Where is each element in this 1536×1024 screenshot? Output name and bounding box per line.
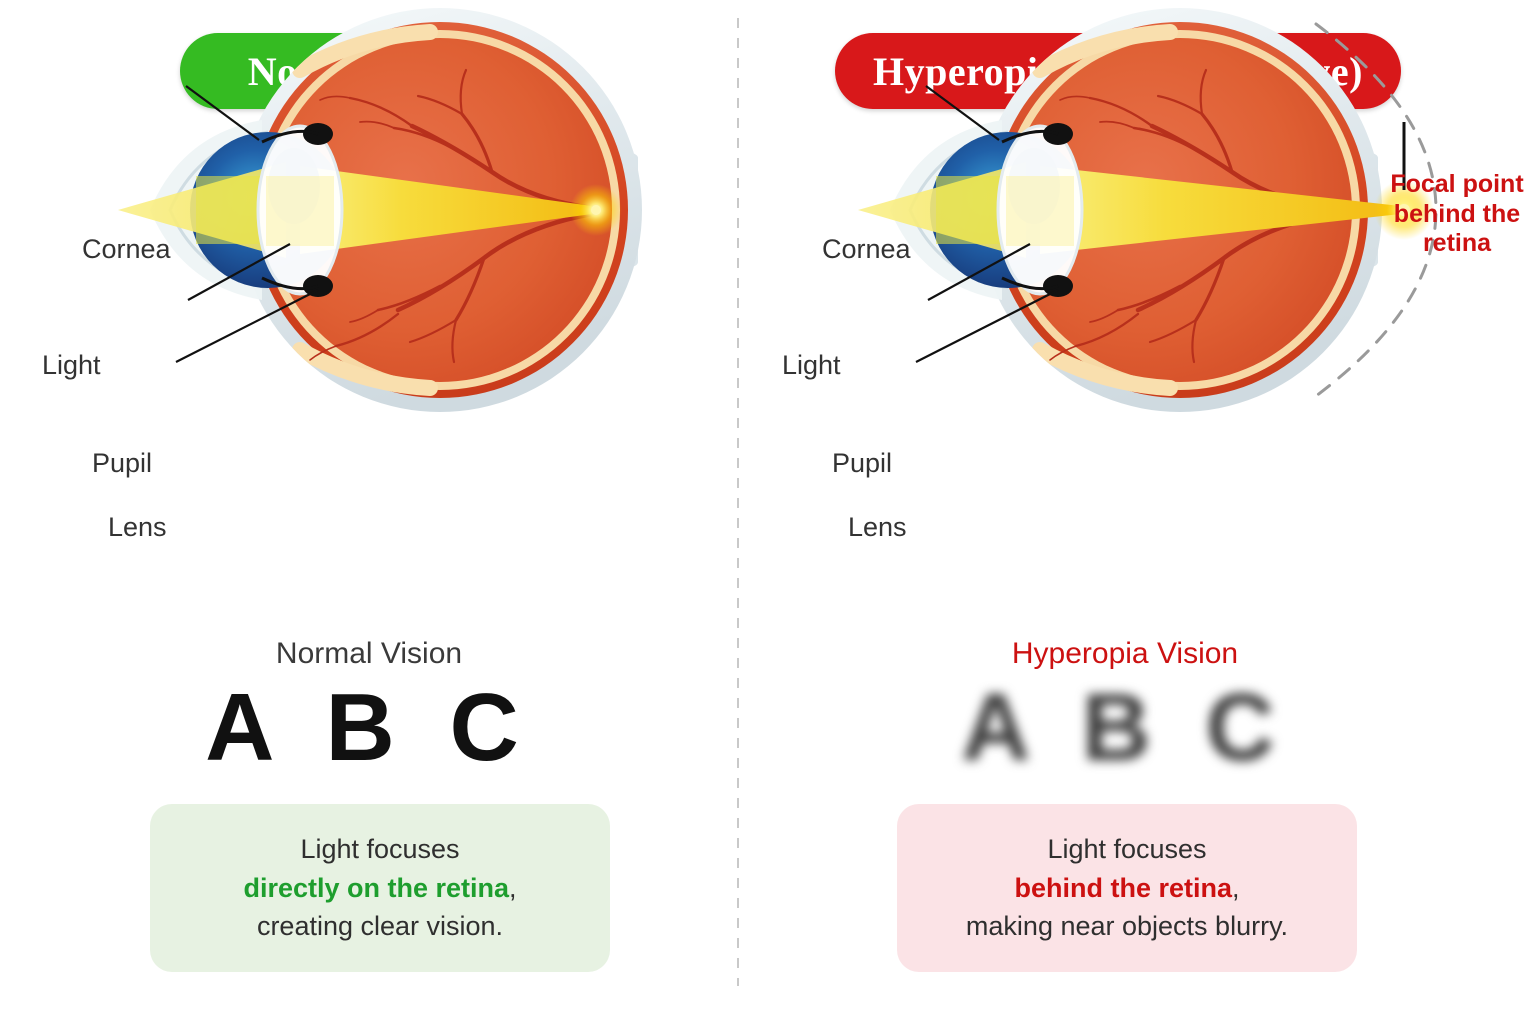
lens-light-right: [1006, 176, 1074, 246]
focal-note-line-1: Focal point: [1382, 170, 1532, 200]
caption-emphasis-green: directly on the retina: [243, 873, 509, 903]
panel-divider: [737, 18, 739, 986]
normal-caption-card: Light focuses directly on the retina, cr…: [150, 804, 610, 972]
label-pupil-right: Pupil: [832, 448, 892, 479]
label-cornea-right: Cornea: [822, 234, 911, 265]
caption-comma: ,: [509, 873, 517, 903]
hyperopia-caption-card: Light focuses behind the retina, making …: [897, 804, 1357, 972]
focal-point-note: Focal point behind the retina: [1382, 170, 1532, 259]
caption-line-1: Light focuses: [300, 830, 459, 869]
diagram-canvas: Normal Eye: [0, 0, 1536, 1024]
normal-eye-panel: Normal Eye: [0, 0, 738, 1024]
caption-emphasis-red: behind the retina: [1014, 873, 1232, 903]
caption-line-3: making near objects blurry.: [966, 907, 1288, 946]
hyperopia-vision-title: Hyperopia Vision: [760, 637, 1490, 671]
acuity-letters-hyperopia: A B C: [760, 680, 1490, 776]
caption-line-2: directly on the retina,: [243, 869, 516, 908]
label-light-right: Light: [782, 350, 841, 381]
normal-vision-title: Normal Vision: [0, 637, 738, 671]
caption-line-2: behind the retina,: [1014, 869, 1239, 908]
caption-line-3: creating clear vision.: [257, 907, 503, 946]
focal-note-line-3: retina: [1382, 229, 1532, 259]
caption-line-1: Light focuses: [1047, 830, 1206, 869]
acuity-letters-normal: A B C: [0, 680, 738, 776]
label-lens-left: Lens: [108, 512, 167, 543]
label-cornea-left: Cornea: [82, 234, 171, 265]
focal-point-left: [591, 205, 601, 215]
caption-comma: ,: [1232, 873, 1240, 903]
label-pupil-left: Pupil: [92, 448, 152, 479]
hyperopia-eye-panel: Hyperopia (Farsighted Eye): [760, 0, 1536, 1024]
label-lens-right: Lens: [848, 512, 907, 543]
lens-light-left: [266, 176, 334, 246]
focal-note-line-2: behind the: [1382, 200, 1532, 230]
label-light-left: Light: [42, 350, 101, 381]
